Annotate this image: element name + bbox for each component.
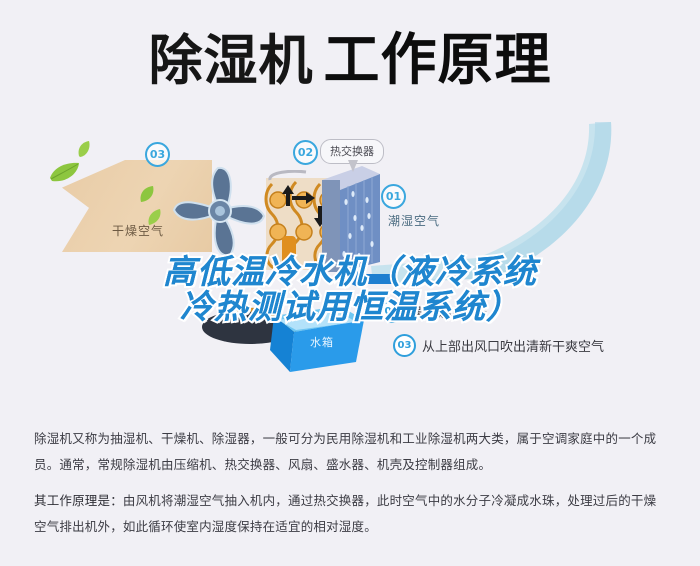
principle-diagram: 干燥空气 潮湿空气 [0,112,700,404]
leaf-icon [76,140,92,158]
heat-exchanger-slab [322,166,380,278]
inflow-arrow-icon [340,271,396,287]
paragraph-2-lead: 其工作原理是： [34,493,123,508]
paragraph-2: 其工作原理是：由风机将潮湿空气抽入机内，通过热交换器，此时空气中的水分子冷凝成水… [34,488,666,540]
step-line-03: 03 从上部出风口吹出清新干爽空气 [393,334,604,357]
diagram-badge-03: 03 [145,142,170,167]
step-text-03: 从上部出风口吹出清新干爽空气 [422,336,604,355]
leaf-icon [147,208,163,226]
description-block: 除湿机又称为抽湿机、干燥机、除湿器，一般可分为民用除湿机和工业除湿机两大类，属于… [0,408,700,566]
page-title: 除湿机 工作原理 [0,22,700,100]
leaf-icon [138,184,156,204]
step-text-02: 器冷凝成水珠 [409,302,487,321]
page-root: 除湿机 工作原理 干燥空气 潮湿空气 [0,0,700,566]
leaf-icon [48,160,82,184]
step-line-02: 02 器冷凝成水珠 [380,300,487,323]
paragraph-1: 除湿机又称为抽湿机、干燥机、除湿器，一般可分为民用除湿机和工业除湿机两大类，属于… [34,426,666,478]
paragraph-2-text: 由风机将潮湿空气抽入机内，通过热交换器，此时空气中的水分子冷凝成水珠，处理过后的… [34,493,656,534]
water-tank-label: 水箱 [310,334,334,350]
moist-air-swoosh [365,118,615,293]
title-part-a: 除湿机 [149,32,314,90]
moist-air-label: 潮湿空气 [388,212,440,229]
diagram-badge-02: 02 [293,140,318,165]
step-badge-02: 02 [380,300,403,323]
diagram-badge-01: 01 [381,184,406,209]
callout-tail-icon [348,160,358,172]
step-badge-03: 03 [393,334,416,357]
fan-icon [168,160,274,264]
title-part-b: 工作原理 [324,32,552,90]
